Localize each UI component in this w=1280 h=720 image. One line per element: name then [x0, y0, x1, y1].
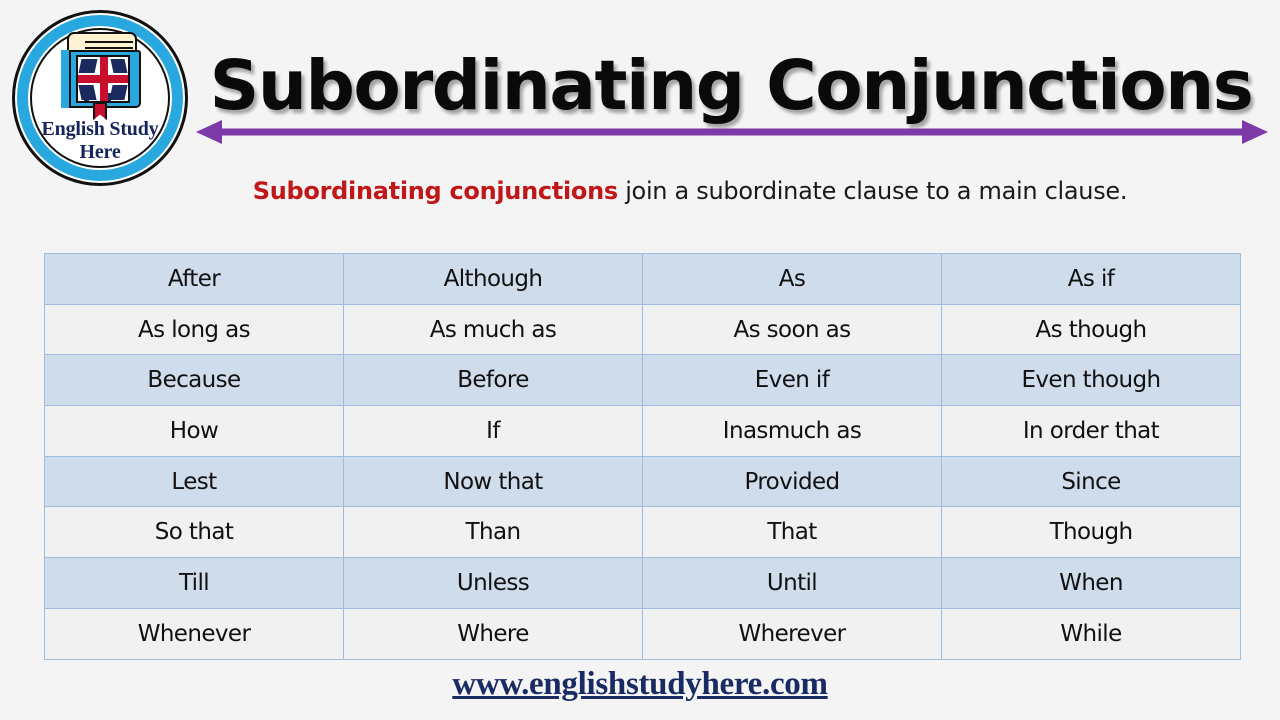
table-cell: As long as: [45, 304, 344, 355]
table-cell: As soon as: [643, 304, 942, 355]
table-body: After Although As As if As long as As mu…: [45, 254, 1241, 660]
footer: www.englishstudyhere.com: [0, 666, 1280, 703]
table-cell: As though: [942, 304, 1241, 355]
header: English Study Here Subordinating Conjunc…: [0, 0, 1280, 230]
uk-flag-icon: [76, 55, 130, 103]
table-cell: As much as: [344, 304, 643, 355]
website-url-link[interactable]: www.englishstudyhere.com: [452, 666, 827, 702]
table-cell: Till: [45, 558, 344, 609]
table-cell: Until: [643, 558, 942, 609]
book-icon: [59, 32, 143, 114]
table-cell: How: [45, 406, 344, 457]
logo-brand-line1: English Study: [30, 118, 170, 141]
table-row: How If Inasmuch as In order that: [45, 406, 1241, 457]
table-row: So that Than That Though: [45, 507, 1241, 558]
table-cell: Unless: [344, 558, 643, 609]
table-cell: As: [643, 254, 942, 305]
table-cell: Lest: [45, 456, 344, 507]
subtitle: Subordinating conjunctions join a subord…: [150, 174, 1230, 208]
table-cell: In order that: [942, 406, 1241, 457]
table-cell: So that: [45, 507, 344, 558]
table-cell: Whenever: [45, 608, 344, 659]
table-cell: That: [643, 507, 942, 558]
subtitle-accent: Subordinating conjunctions: [253, 177, 618, 205]
logo-brand-line2: Here: [30, 141, 170, 164]
book-spine: [61, 50, 71, 108]
table-row: Because Before Even if Even though: [45, 355, 1241, 406]
table-cell: Since: [942, 456, 1241, 507]
table-cell: Even if: [643, 355, 942, 406]
table-cell: As if: [942, 254, 1241, 305]
table-cell: Inasmuch as: [643, 406, 942, 457]
subtitle-rest: join a subordinate clause to a main clau…: [618, 177, 1127, 205]
table-cell: Even though: [942, 355, 1241, 406]
table-cell: Though: [942, 507, 1241, 558]
table-row: Till Unless Until When: [45, 558, 1241, 609]
table-row: Whenever Where Wherever While: [45, 608, 1241, 659]
table-cell: If: [344, 406, 643, 457]
table-cell: Now that: [344, 456, 643, 507]
double-headed-arrow-divider: [196, 118, 1268, 146]
page-title: Subordinating Conjunctions: [196, 46, 1266, 126]
table-cell: Provided: [643, 456, 942, 507]
table-row: After Although As As if: [45, 254, 1241, 305]
table-cell: While: [942, 608, 1241, 659]
table-cell: Although: [344, 254, 643, 305]
table-cell: When: [942, 558, 1241, 609]
table-cell: Where: [344, 608, 643, 659]
table-row: Lest Now that Provided Since: [45, 456, 1241, 507]
subordinating-conjunctions-table: After Although As As if As long as As mu…: [44, 253, 1241, 660]
table-cell: Before: [344, 355, 643, 406]
table-cell: Wherever: [643, 608, 942, 659]
table-cell: Because: [45, 355, 344, 406]
table-cell: After: [45, 254, 344, 305]
logo-badge: English Study Here: [12, 10, 188, 186]
table-row: As long as As much as As soon as As thou…: [45, 304, 1241, 355]
conjunctions-table-container: After Although As As if As long as As mu…: [44, 253, 1236, 651]
table-cell: Than: [344, 507, 643, 558]
logo-brand-text: English Study Here: [30, 118, 170, 164]
